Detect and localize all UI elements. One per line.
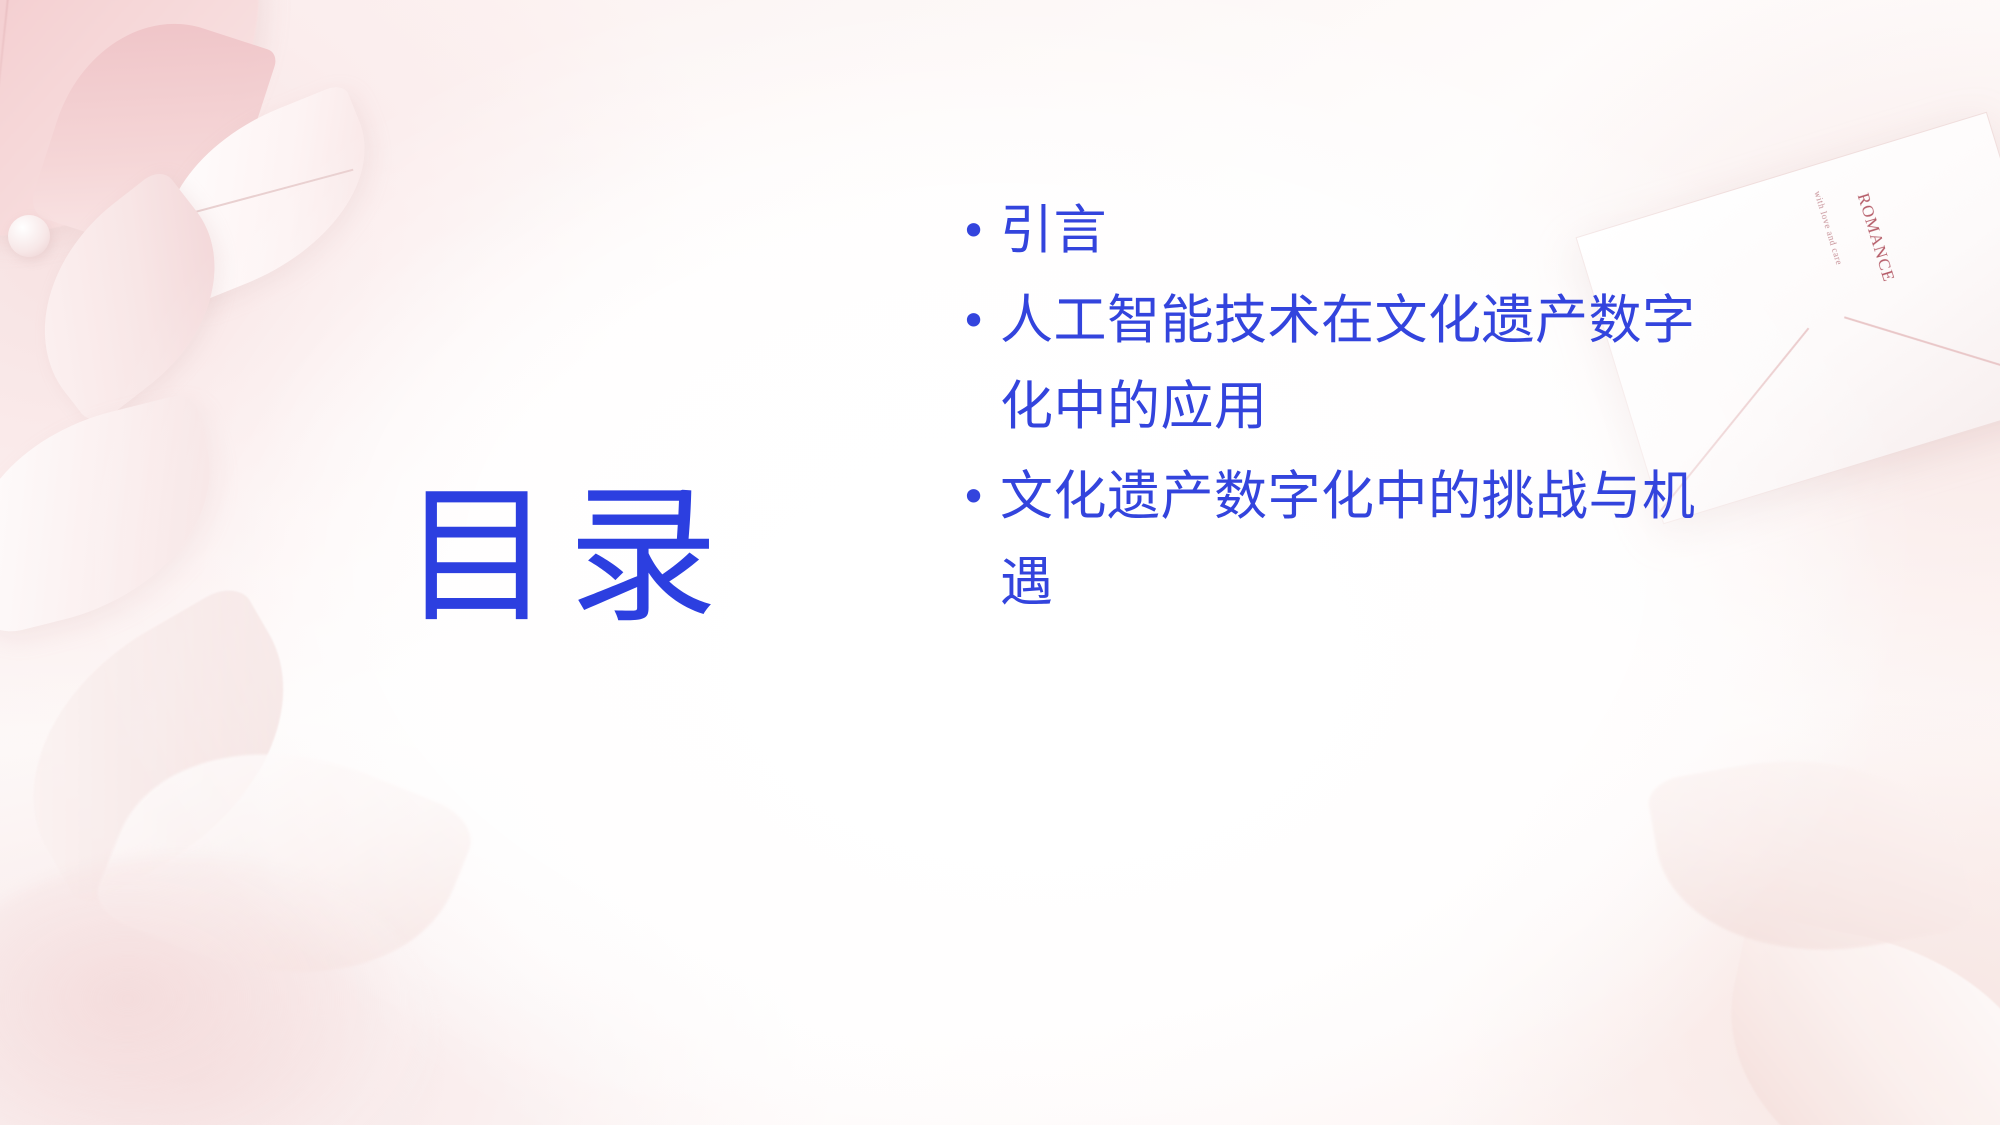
list-item: • 引言 (960, 188, 1720, 274)
list-item: • 人工智能技术在文化遗产数字化中的应用 (960, 278, 1720, 450)
outline-item-label: 人工智能技术在文化遗产数字化中的应用 (1000, 278, 1720, 450)
bullet-point-icon: • (960, 278, 1000, 364)
list-item: • 文化遗产数字化中的挑战与机遇 (960, 454, 1720, 626)
slide-title: 目录 (330, 478, 790, 637)
slide-root: ROMANCE with love and care 目录 • 引言 • 人工智… (0, 0, 2000, 1125)
bullet-point-icon: • (960, 454, 1000, 540)
bullet-point-icon: • (960, 188, 1000, 274)
outline-list: • 引言 • 人工智能技术在文化遗产数字化中的应用 • 文化遗产数字化中的挑战与… (960, 188, 1720, 630)
outline-item-label: 文化遗产数字化中的挑战与机遇 (1000, 454, 1720, 626)
outline-item-label: 引言 (1000, 188, 1720, 274)
slide-content: 目录 • 引言 • 人工智能技术在文化遗产数字化中的应用 • 文化遗产数字化中的… (0, 0, 2000, 1125)
